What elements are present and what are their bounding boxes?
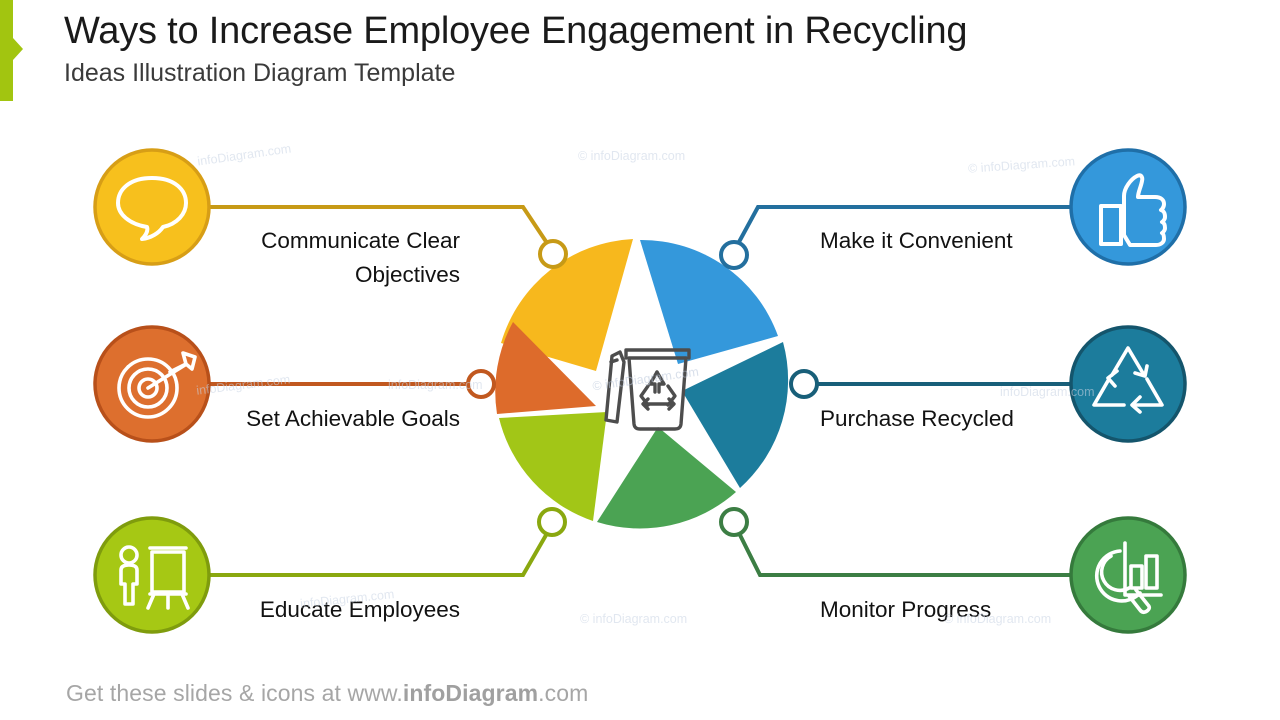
label-monitor: Monitor Progress xyxy=(820,593,1120,627)
segment-lime xyxy=(499,412,607,521)
slide-canvas: Ways to Increase Employee Engagement in … xyxy=(0,0,1280,720)
label-goals-line1: Set Achievable Goals xyxy=(185,402,460,436)
label-monitor-line1: Monitor Progress xyxy=(820,593,1120,627)
connector-monitor xyxy=(734,523,1084,575)
label-communicate-line2: Objectives xyxy=(185,258,460,292)
node-monitor[interactable] xyxy=(721,509,747,535)
node-educate[interactable] xyxy=(539,509,565,535)
connector-educate xyxy=(196,523,553,575)
node-communicate[interactable] xyxy=(540,241,566,267)
label-convenient: Make it Convenient xyxy=(820,224,1120,258)
label-educate-line1: Educate Employees xyxy=(185,593,460,627)
recycle-bin-icon xyxy=(606,350,689,429)
label-educate: Educate Employees xyxy=(185,593,460,627)
shutter-wheel xyxy=(495,239,788,528)
footer-brand: infoDiagram xyxy=(403,680,538,706)
label-communicate: Communicate Clear Objectives xyxy=(185,224,460,292)
label-goals: Set Achievable Goals xyxy=(185,402,460,436)
label-purchase: Purchase Recycled xyxy=(820,402,1120,436)
label-communicate-line1: Communicate Clear xyxy=(185,224,460,258)
label-purchase-line1: Purchase Recycled xyxy=(820,402,1120,436)
node-goals[interactable] xyxy=(468,371,494,397)
footer-suffix: .com xyxy=(538,680,588,706)
node-convenient[interactable] xyxy=(721,242,747,268)
label-convenient-line1: Make it Convenient xyxy=(820,224,1120,258)
footer-prefix: Get these slides & icons at www. xyxy=(66,680,403,706)
segment-blue xyxy=(640,240,778,364)
footer-credit: Get these slides & icons at www.infoDiag… xyxy=(66,680,588,707)
node-purchase[interactable] xyxy=(791,371,817,397)
